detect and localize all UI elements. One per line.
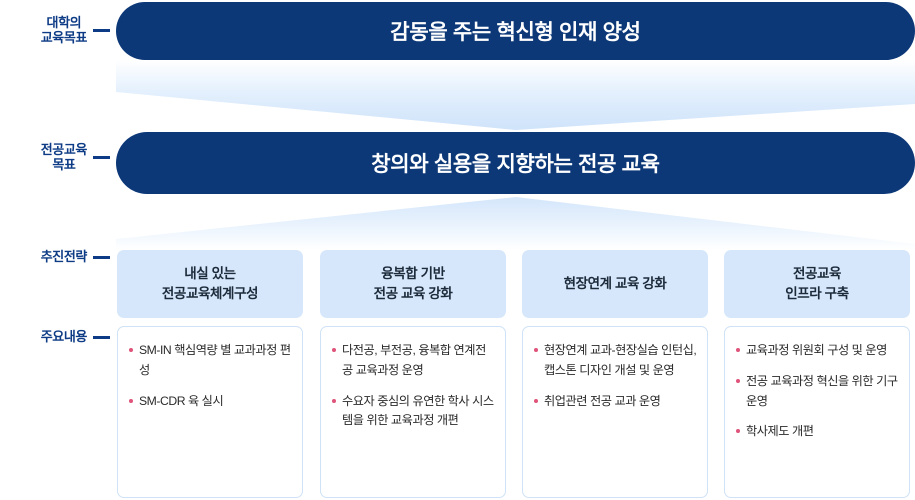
strategy-label: 융복합 기반 전공 교육 강화 [374, 264, 453, 303]
strategy-box-3: 현장연계 교육 강화 [522, 250, 708, 318]
row-label-text: 전공교육 목표 [41, 142, 87, 173]
list-item-text: 교육과정 위원회 구성 및 운영 [746, 343, 887, 357]
row-label-text: 추진전략 [41, 249, 87, 264]
list-item-text: SM-IN 핵심역량 별 교과과정 편성 [139, 343, 291, 377]
list-item: SM-CDR 육 실시 [128, 392, 293, 412]
list-item-text: 전공 교육과정 혁신을 위한 기구 운영 [746, 374, 898, 408]
list-item-text: 수요자 중심의 유연한 학사 시스템을 위한 교육과정 개편 [342, 394, 494, 428]
bullet-icon [534, 399, 538, 403]
strategy-box-1: 내실 있는 전공교육체계구성 [117, 250, 303, 318]
strategy-label: 전공교육 인프라 구축 [785, 264, 848, 303]
row-label-main-content: 주요내용 [0, 326, 110, 348]
connector-dash-icon [93, 336, 110, 339]
list-item: 수요자 중심의 유연한 학사 시스템을 위한 교육과정 개편 [331, 392, 496, 432]
content-box-2: 다전공, 부전공, 융복합 연계전공 교육과정 운영 수요자 중심의 유연한 학… [320, 326, 506, 498]
list-item: 전공 교육과정 혁신을 위한 기구 운영 [735, 372, 900, 412]
strategy-box-2: 융복합 기반 전공 교육 강화 [320, 250, 506, 318]
connector-dash-icon [93, 156, 110, 159]
list-item: 현장연계 교과-현장실습 인턴십, 캡스톤 디자인 개설 및 운영 [533, 341, 698, 381]
content-list: 교육과정 위원회 구성 및 운영 전공 교육과정 혁신을 위한 기구 운영 학사… [735, 341, 900, 442]
strategy-label: 현장연계 교육 강화 [564, 274, 667, 294]
list-item-text: SM-CDR 육 실시 [139, 394, 223, 408]
bullet-icon [332, 348, 336, 352]
bullet-icon [332, 399, 336, 403]
bullet-icon [736, 429, 740, 433]
bullet-icon [736, 348, 740, 352]
row-label-promotion-strategy: 추진전략 [0, 246, 110, 268]
content-list: 현장연계 교과-현장실습 인턴십, 캡스톤 디자인 개설 및 운영 취업관련 전… [533, 341, 698, 411]
bullet-icon [129, 399, 133, 403]
major-education-goal-bar: 창의와 실용을 지향하는 전공 교육 [116, 132, 915, 194]
content-box-1: SM-IN 핵심역량 별 교과과정 편성 SM-CDR 육 실시 [117, 326, 303, 498]
row-label-major-education-goal: 전공교육 목표 [0, 133, 110, 181]
list-item-text: 다전공, 부전공, 융복합 연계전공 교육과정 운영 [342, 343, 486, 377]
university-education-goal-text: 감동을 주는 혁신형 인재 양성 [390, 16, 640, 46]
list-item-text: 현장연계 교과-현장실습 인턴십, 캡스톤 디자인 개설 및 운영 [544, 343, 696, 377]
bullet-icon [534, 348, 538, 352]
content-list: 다전공, 부전공, 융복합 연계전공 교육과정 운영 수요자 중심의 유연한 학… [331, 341, 496, 431]
list-item: 학사제도 개편 [735, 422, 900, 442]
major-education-goal-text: 창의와 실용을 지향하는 전공 교육 [371, 148, 659, 178]
connector-dash-icon [93, 29, 110, 32]
list-item: SM-IN 핵심역량 별 교과과정 편성 [128, 341, 293, 381]
list-item-text: 학사제도 개편 [746, 424, 814, 438]
list-item: 교육과정 위원회 구성 및 운영 [735, 341, 900, 361]
row-label-text: 주요내용 [41, 329, 87, 344]
content-box-3: 현장연계 교과-현장실습 인턴십, 캡스톤 디자인 개설 및 운영 취업관련 전… [522, 326, 708, 498]
row-label-university-education-goal: 대학의 교육목표 [0, 8, 110, 52]
list-item: 다전공, 부전공, 융복합 연계전공 교육과정 운영 [331, 341, 496, 381]
connector-dash-icon [93, 256, 110, 259]
list-item: 취업관련 전공 교과 운영 [533, 392, 698, 412]
bullet-icon [736, 379, 740, 383]
strategy-box-4: 전공교육 인프라 구축 [724, 250, 910, 318]
university-education-goal-bar: 감동을 주는 혁신형 인재 양성 [116, 2, 915, 60]
funnel-connector-middle [116, 194, 915, 250]
content-list: SM-IN 핵심역량 별 교과과정 편성 SM-CDR 육 실시 [128, 341, 293, 411]
bullet-icon [129, 348, 133, 352]
strategy-label: 내실 있는 전공교육체계구성 [162, 264, 258, 303]
content-box-4: 교육과정 위원회 구성 및 운영 전공 교육과정 혁신을 위한 기구 운영 학사… [724, 326, 910, 498]
education-goal-diagram: 대학의 교육목표 전공교육 목표 추진전략 주요내용 감동을 주는 혁신형 인재… [0, 0, 915, 500]
funnel-connector-top [116, 60, 915, 132]
list-item-text: 취업관련 전공 교과 운영 [544, 394, 660, 408]
row-label-text: 대학의 교육목표 [41, 15, 87, 46]
